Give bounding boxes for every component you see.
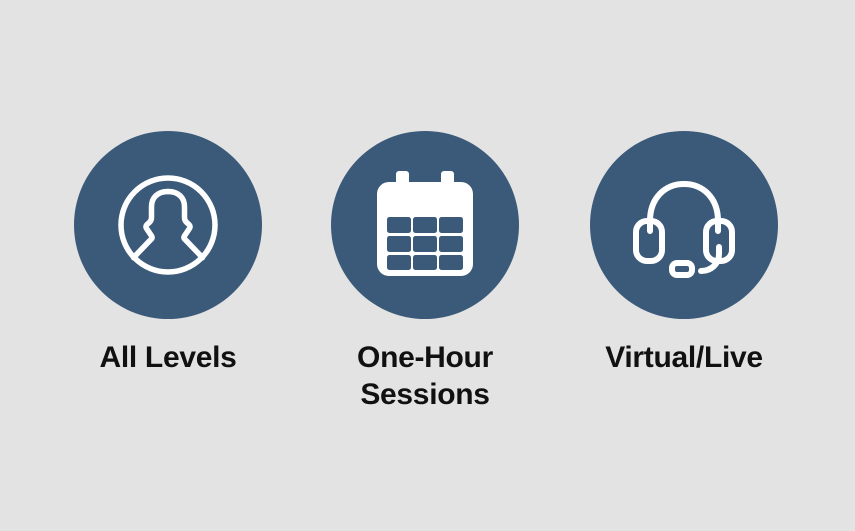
feature-item-all-levels: All Levels [48, 131, 288, 377]
calendar-icon [373, 171, 477, 279]
feature-label-virtual-live: Virtual/Live [605, 340, 763, 377]
feature-item-one-hour-sessions: One-Hour Sessions [305, 131, 545, 413]
icon-badge-all-levels [74, 131, 262, 319]
feature-label-all-levels: All Levels [99, 340, 236, 377]
feature-item-virtual-live: Virtual/Live [564, 131, 804, 377]
headset-icon [628, 169, 740, 281]
person-circle-icon [108, 165, 228, 285]
icon-badge-one-hour-sessions [331, 131, 519, 319]
feature-label-one-hour-sessions: One-Hour Sessions [357, 340, 493, 413]
feature-highlights-banner: All Levels [0, 0, 855, 531]
icon-badge-virtual-live [590, 131, 778, 319]
